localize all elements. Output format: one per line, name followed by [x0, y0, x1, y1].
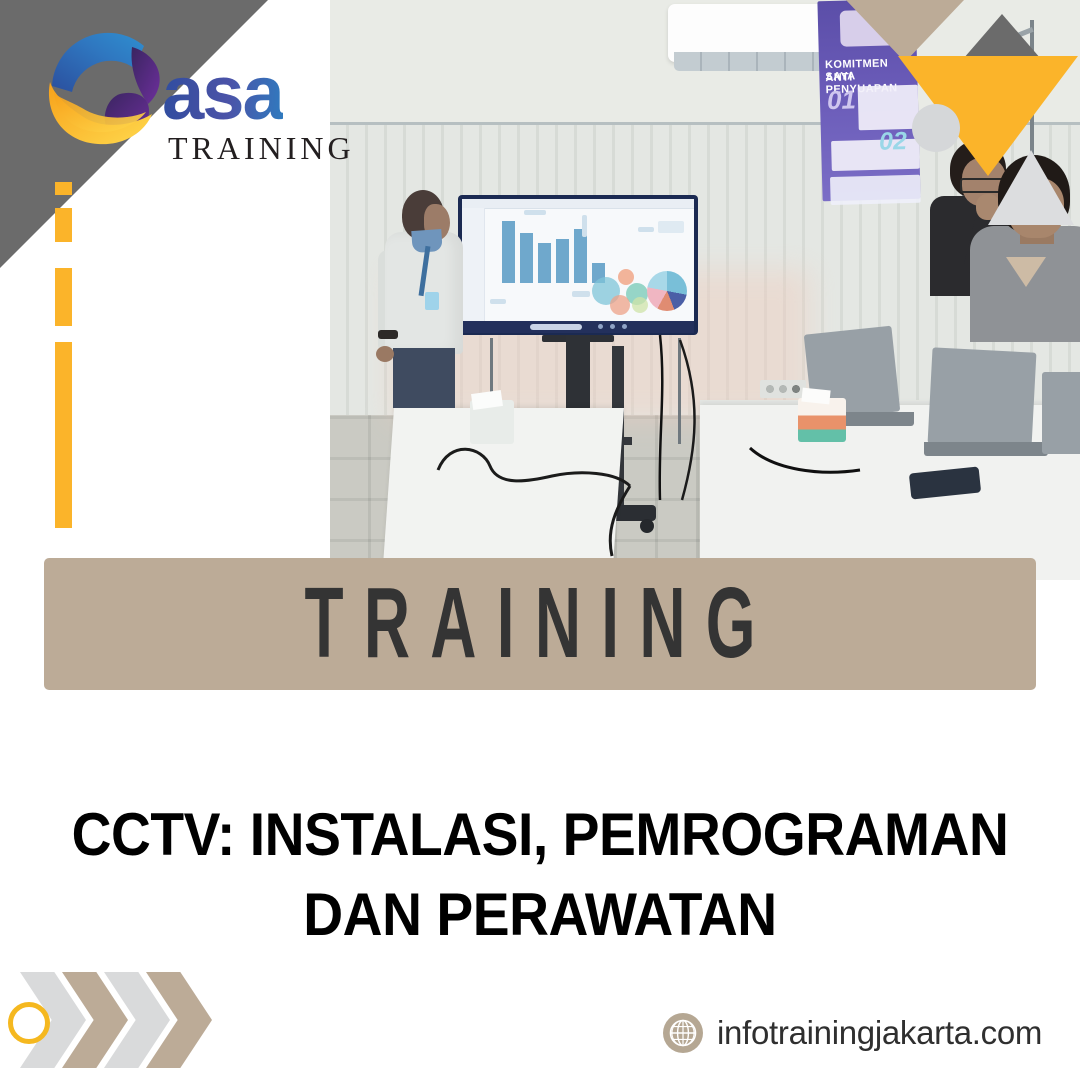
- tan-triangle-small-down: [1006, 257, 1046, 287]
- yellow-bar-2: [55, 208, 72, 242]
- footer-url-text: infotrainingjakarta.com: [717, 1014, 1042, 1052]
- yellow-bar-3: [55, 268, 72, 326]
- asa-training-logo[interactable]: asa TRAINING: [36, 22, 346, 172]
- gray-circle-decor: [912, 104, 960, 152]
- light-gray-triangle-up: [988, 150, 1074, 225]
- poster-root: KOMITMEN SAYA ANTI PENYUAPAN 01 02: [0, 0, 1080, 1080]
- training-banner-label: TRAINING: [304, 567, 775, 682]
- page-title-line-2: DAN PERAWATAN: [71, 875, 1009, 955]
- yellow-ring-decor: [8, 1002, 50, 1044]
- asa-circular-swirl-logo: [36, 22, 176, 162]
- logo-wordmark: asa: [162, 56, 283, 132]
- training-banner: TRAINING: [44, 558, 1036, 690]
- globe-icon: [663, 1013, 703, 1053]
- tan-triangle-top: [846, 0, 964, 62]
- footer-website[interactable]: infotrainingjakarta.com: [663, 1013, 1042, 1053]
- chevron-4: [146, 972, 212, 1068]
- yellow-bar-1: [55, 182, 72, 195]
- page-title-line-1: CCTV: INSTALASI, PEMROGRAMAN: [71, 795, 1009, 875]
- logo-subtext: TRAINING: [168, 132, 355, 164]
- page-title: CCTV: INSTALASI, PEMROGRAMAN DAN PERAWAT…: [71, 795, 1009, 955]
- yellow-bar-4: [55, 342, 72, 528]
